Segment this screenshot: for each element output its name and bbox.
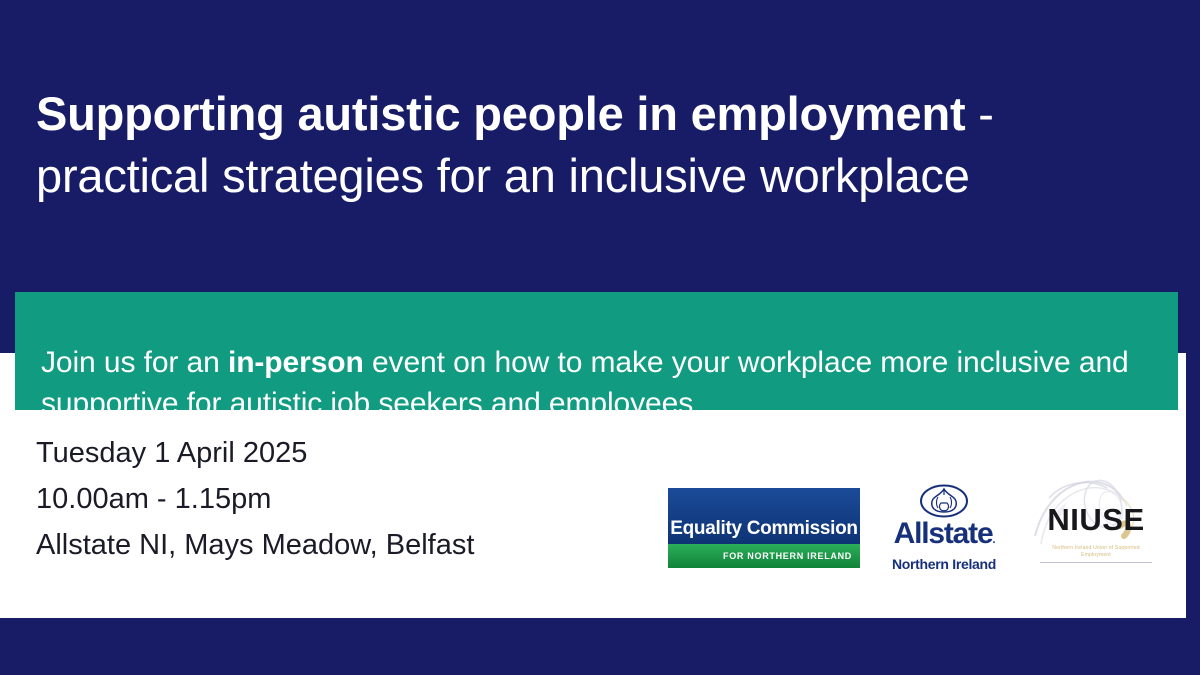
page-title-bold: Supporting autistic people in employment xyxy=(36,87,965,140)
navy-right-edge-border xyxy=(1186,0,1200,618)
event-date: Tuesday 1 April 2025 xyxy=(36,430,474,476)
equality-commission-logo: Equality Commission FOR NORTHERN IRELAND xyxy=(665,485,863,571)
equality-commission-subtitle: FOR NORTHERN IRELAND xyxy=(723,551,852,561)
niuse-logo: NIUSE Northern Ireland Union of Supporte… xyxy=(1025,474,1167,582)
event-details: Tuesday 1 April 2025 10.00am - 1.15pm Al… xyxy=(36,430,474,568)
niuse-underline-rule xyxy=(1040,562,1152,563)
equality-commission-subtitle-block: FOR NORTHERN IRELAND xyxy=(668,544,860,568)
niuse-wordmark: NIUSE xyxy=(1047,503,1144,537)
niuse-tagline: Northern Ireland Union of Supported Empl… xyxy=(1037,545,1155,559)
banner-text: Join us for an in-person event on how to… xyxy=(41,342,1152,424)
equality-commission-title: Equality Commission xyxy=(670,518,858,540)
banner-text-emphasis: in-person xyxy=(228,346,364,379)
sponsor-logo-row: Equality Commission FOR NORTHERN IRELAND… xyxy=(665,470,1180,585)
event-time: 10.00am - 1.15pm xyxy=(36,476,474,522)
event-poster: Supporting autistic people in employment… xyxy=(0,0,1200,675)
banner-text-lead: Join us for an xyxy=(41,346,228,379)
allstate-subtitle: Northern Ireland xyxy=(892,556,996,572)
allstate-logo: Allstate. Northern Ireland xyxy=(885,478,1003,578)
navy-footer-band xyxy=(0,618,1200,675)
green-highlight-banner: Join us for an in-person event on how to… xyxy=(15,292,1178,410)
allstate-wordmark: Allstate. xyxy=(894,519,995,555)
page-title: Supporting autistic people in employment… xyxy=(36,83,1096,207)
event-venue: Allstate NI, Mays Meadow, Belfast xyxy=(36,522,474,568)
allstate-trademark: . xyxy=(992,534,994,546)
equality-commission-title-block: Equality Commission xyxy=(668,488,860,544)
cupped-hands-icon xyxy=(919,484,969,518)
